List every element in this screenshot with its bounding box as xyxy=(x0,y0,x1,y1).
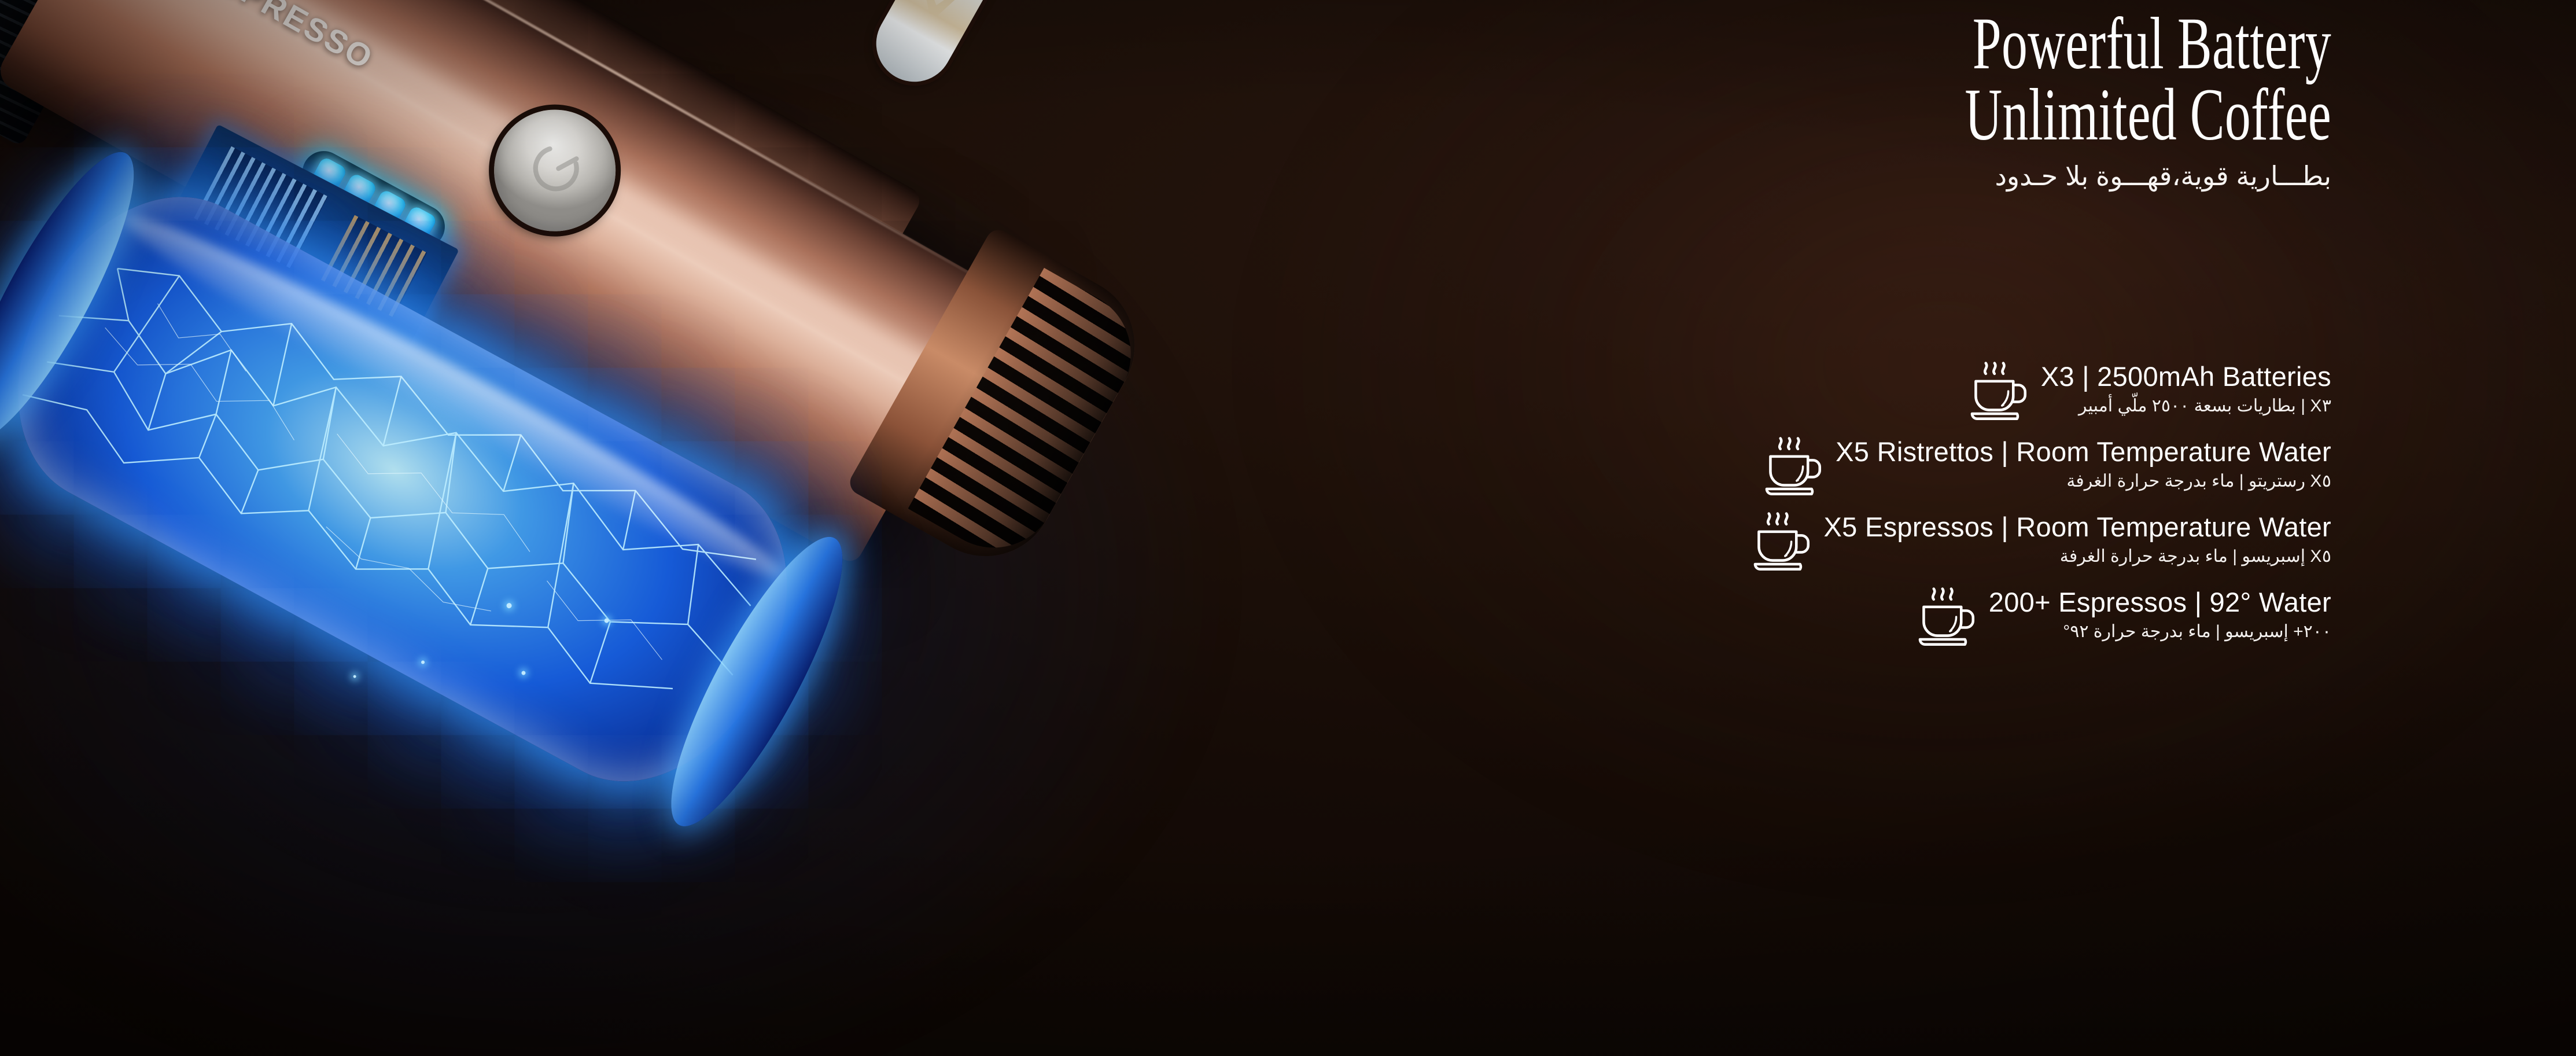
headline-arabic: بطـــارية قوية،قهـــوة بلا حـدود xyxy=(1477,161,2331,192)
feature-list: X3 | 2500mAh Batteries X٣ | بطاريات بسعة… xyxy=(1748,359,2331,647)
feature-item: X5 Ristrettos | Room Temperature Water X… xyxy=(1759,434,2331,496)
feature-text-en: X5 Espressos | Room Temperature Water xyxy=(1824,512,2331,542)
feature-text-ar: X٥ رستريتو | ماء بدرجة حرارة الغرفة xyxy=(1836,469,2331,494)
coffee-cup-icon xyxy=(1965,359,2027,421)
feature-text-ar: X٣ | بطاريات بسعة ٢٥٠٠ ملّي أمبير xyxy=(2041,394,2331,418)
feature-text-ar: ٢٠٠+ إسبريسو | ماء بدرجة حرارة ٩٢° xyxy=(1989,620,2331,644)
feature-text-en: 200+ Espressos | 92° Water xyxy=(1989,587,2331,617)
promo-banner: LéPRESSO xyxy=(0,0,2576,1056)
feature-item: 200+ Espressos | 92° Water ٢٠٠+ إسبريسو … xyxy=(1912,584,2331,647)
feature-item: X3 | 2500mAh Batteries X٣ | بطاريات بسعة… xyxy=(1965,359,2331,421)
feature-text-en: X5 Ristrettos | Room Temperature Water xyxy=(1836,436,2331,467)
feature-text-ar: X٥ إسبريسو | ماء بدرجة حرارة الغرفة xyxy=(1824,544,2331,569)
headline: Powerful Battery Unlimited Coffee xyxy=(1733,8,2331,150)
coffee-cup-icon xyxy=(1759,434,1822,496)
headline-line-1: Powerful Battery xyxy=(1973,2,2331,84)
coffee-cup-icon xyxy=(1748,509,1810,572)
coffee-cup-icon xyxy=(1912,584,1975,647)
headline-line-2: Unlimited Coffee xyxy=(1733,79,2331,150)
feature-item: X5 Espressos | Room Temperature Water X٥… xyxy=(1748,509,2331,572)
feature-text-en: X3 | 2500mAh Batteries xyxy=(2041,361,2331,392)
